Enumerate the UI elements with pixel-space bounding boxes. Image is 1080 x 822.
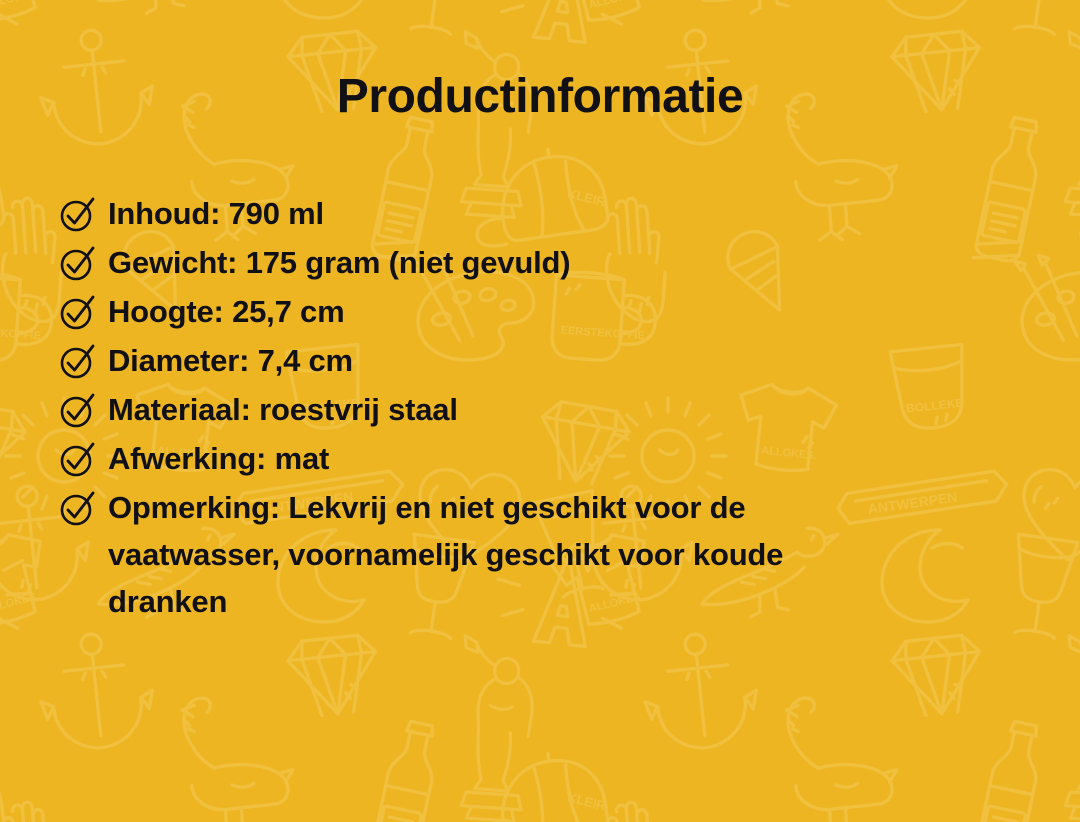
circle-check-icon xyxy=(60,492,94,526)
circle-check-icon xyxy=(60,198,94,232)
page-title: Productinformatie xyxy=(0,72,1080,122)
list-item: Inhoud: 790 ml xyxy=(60,190,1020,237)
list-item-label: Inhoud: 790 ml xyxy=(108,190,324,237)
product-spec-list: Inhoud: 790 ml Gewicht: 175 gram (niet g… xyxy=(60,190,1020,627)
list-item: Gewicht: 175 gram (niet gevuld) xyxy=(60,239,1020,286)
circle-check-icon xyxy=(60,247,94,281)
list-item: Hoogte: 25,7 cm xyxy=(60,288,1020,335)
list-item: Diameter: 7,4 cm xyxy=(60,337,1020,384)
list-item-label: Afwerking: mat xyxy=(108,435,329,482)
list-item-label: Diameter: 7,4 cm xyxy=(108,337,353,384)
list-item: Opmerking: Lekvrij en niet geschikt voor… xyxy=(60,484,1020,625)
list-item-label: Hoogte: 25,7 cm xyxy=(108,288,344,335)
circle-check-icon xyxy=(60,443,94,477)
circle-check-icon xyxy=(60,345,94,379)
list-item: Materiaal: roestvrij staal xyxy=(60,386,1020,433)
circle-check-icon xyxy=(60,296,94,330)
list-item-label: Gewicht: 175 gram (niet gevuld) xyxy=(108,239,570,286)
product-info-slide: Productinformatie Inhoud: 790 ml Gewicht… xyxy=(0,0,1080,822)
list-item-label: Materiaal: roestvrij staal xyxy=(108,386,458,433)
list-item-label: Opmerking: Lekvrij en niet geschikt voor… xyxy=(108,484,908,625)
circle-check-icon xyxy=(60,394,94,428)
list-item: Afwerking: mat xyxy=(60,435,1020,482)
